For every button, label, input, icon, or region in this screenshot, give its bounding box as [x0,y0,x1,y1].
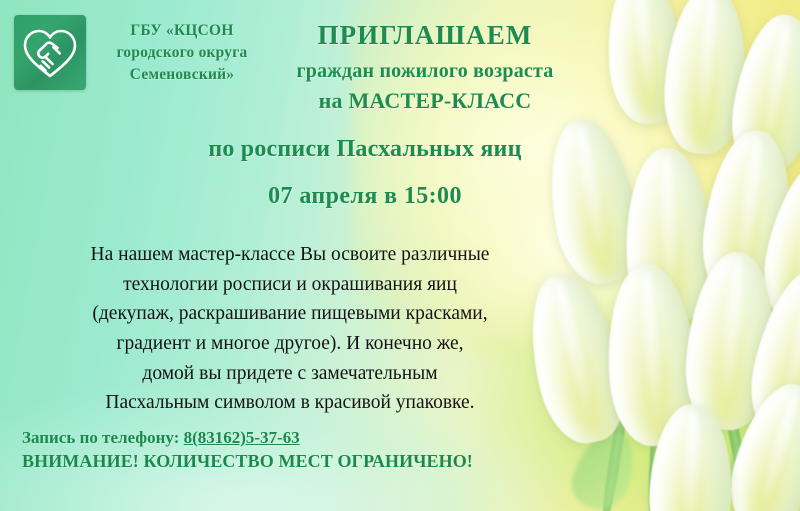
description-line: На нашем мастер-классе Вы освоите различ… [40,240,540,270]
invitation-line-2: граждан пожилого возраста [200,57,650,86]
heart-handshake-icon [21,26,79,80]
limited-seats-warning: ВНИМАНИЕ! КОЛИЧЕСТВО МЕСТ ОГРАНИЧЕНО! [22,451,473,472]
signup-phone-number[interactable]: 8(83162)5-37-63 [184,428,300,447]
organization-logo [14,15,86,90]
description-line: (декупаж, раскрашивание пищевыми краскам… [40,299,540,329]
invitation-line-3: на МАСТЕР-КЛАСС [200,87,650,116]
invitation-line-1: ПРИГЛАШАЕМ [200,20,650,52]
signup-label: Запись по телефону: [22,428,179,447]
description-line: технологии росписи и окрашивания яиц [40,270,540,300]
signup-info: Запись по телефону: 8(83162)5-37-63 [22,428,300,448]
description-line: домой вы придете с замечательным [40,359,540,389]
description-line: градиент и многое другое). И конечно же, [40,329,540,359]
poster-canvas: ГБУ «КЦСОН городского округа Семеновский… [0,0,800,511]
description-line: Пасхальным символом в красивой упаковке. [40,388,540,418]
event-datetime: 07 апреля в 15:00 [150,183,580,210]
invitation-heading: ПРИГЛАШАЕМ граждан пожилого возраста на … [200,20,650,115]
event-description: На нашем мастер-классе Вы освоите различ… [40,240,540,418]
event-topic: по росписи Пасхальных яиц [130,136,600,163]
